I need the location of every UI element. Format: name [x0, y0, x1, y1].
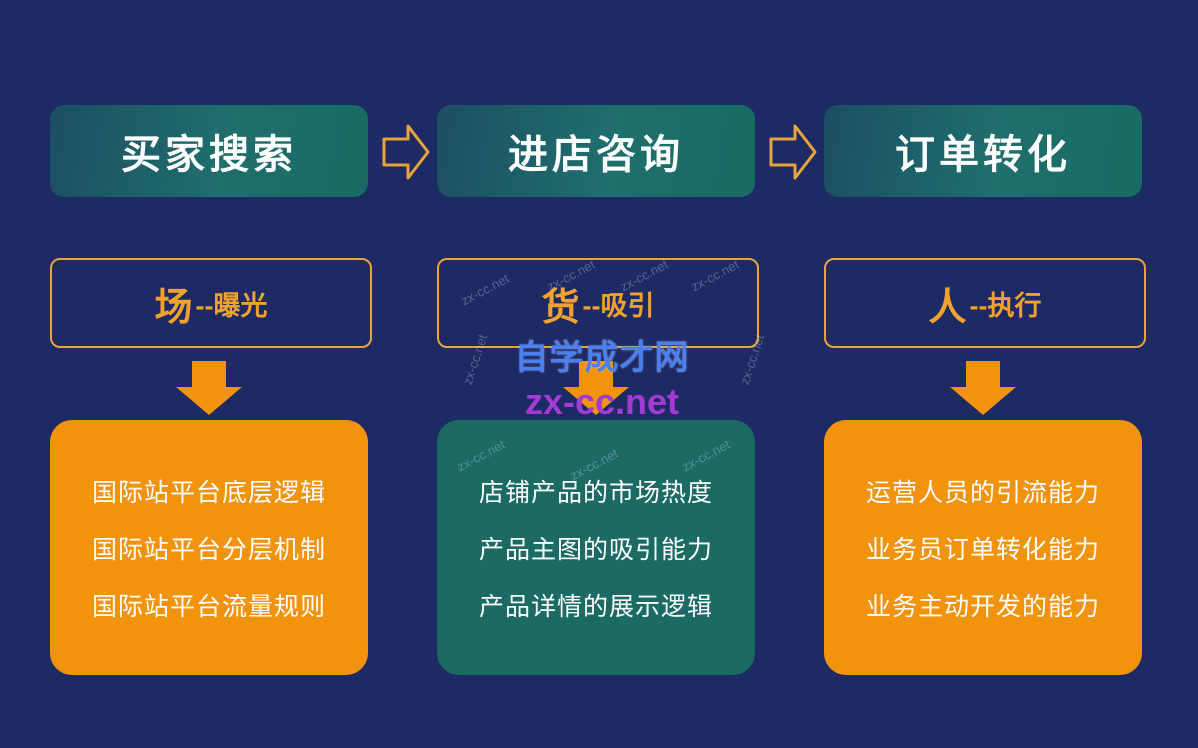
panel-line: 产品主图的吸引能力: [479, 530, 713, 566]
panel-line: 业务员订单转化能力: [866, 530, 1100, 566]
panel-line: 业务主动开发的能力: [866, 587, 1100, 623]
arrow-down-icon: [946, 361, 1020, 417]
stage-header-2: 进店咨询: [437, 105, 755, 197]
key-box-goods: 货 --吸引: [437, 258, 759, 348]
stage-header-3-label: 订单转化: [895, 122, 1071, 180]
panel-line: 店铺产品的市场热度: [479, 473, 713, 509]
diagram-canvas: 买家搜索 进店咨询 订单转化 场 --曝光 货 --吸引 人 --执行: [0, 0, 1198, 748]
arrow-right-icon: [769, 123, 817, 181]
stage-header-2-label: 进店咨询: [508, 122, 684, 180]
key-box-people-main: 人: [929, 276, 968, 331]
stage-header-1: 买家搜索: [50, 105, 368, 197]
key-box-field-main: 场: [155, 276, 194, 331]
key-box-people: 人 --执行: [824, 258, 1146, 348]
stage-header-3: 订单转化: [824, 105, 1142, 197]
key-box-field: 场 --曝光: [50, 258, 372, 348]
key-box-people-suffix: --执行: [970, 284, 1042, 323]
content-panel-people: 运营人员的引流能力 业务员订单转化能力 业务主动开发的能力: [824, 420, 1142, 675]
key-box-goods-main: 货: [542, 276, 581, 331]
panel-line: 国际站平台底层逻辑: [92, 473, 326, 509]
content-panel-goods: 店铺产品的市场热度 产品主图的吸引能力 产品详情的展示逻辑: [437, 420, 755, 675]
panel-line: 国际站平台分层机制: [92, 530, 326, 566]
arrow-down-icon: [172, 361, 246, 417]
arrow-down-icon: [559, 361, 633, 417]
key-box-goods-suffix: --吸引: [583, 284, 655, 323]
key-box-field-suffix: --曝光: [196, 284, 268, 323]
panel-line: 运营人员的引流能力: [866, 473, 1100, 509]
stage-header-1-label: 买家搜索: [121, 122, 297, 180]
panel-line: 产品详情的展示逻辑: [479, 587, 713, 623]
content-panel-field: 国际站平台底层逻辑 国际站平台分层机制 国际站平台流量规则: [50, 420, 368, 675]
arrow-right-icon: [382, 123, 430, 181]
panel-line: 国际站平台流量规则: [92, 587, 326, 623]
